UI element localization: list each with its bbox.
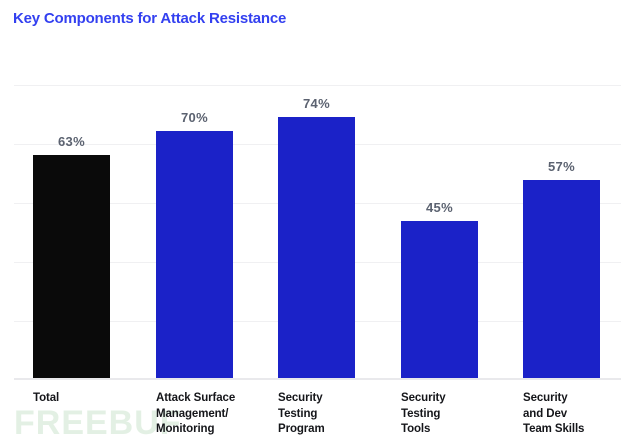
category-label-line: Monitoring (156, 422, 256, 438)
x-axis-line (14, 378, 621, 380)
bar-security-and-dev-team-skills[interactable]: 57% (523, 0, 600, 378)
bar-rect (156, 131, 233, 378)
category-label-line: Testing (401, 407, 501, 423)
category-label-security-and-dev-team-skills: Security and Dev Team Skills (523, 391, 623, 438)
category-labels: Total Attack Surface Management/ Monitor… (0, 391, 635, 446)
category-label-line: and Dev (523, 407, 623, 423)
bar-attack-surface-management-monitoring[interactable]: 70% (156, 0, 233, 378)
category-label-security-testing-program: Security Testing Program (278, 391, 378, 438)
category-label-line: Security (401, 391, 501, 407)
bar-rect (33, 155, 110, 378)
bar-security-testing-tools[interactable]: 45% (401, 0, 478, 378)
bar-value-label: 57% (523, 159, 600, 174)
category-label-line: Program (278, 422, 378, 438)
category-label-line: Tools (401, 422, 501, 438)
category-label-line: Team Skills (523, 422, 623, 438)
bar-value-label: 63% (33, 134, 110, 149)
bar-value-label: 74% (278, 96, 355, 111)
bar-rect (401, 221, 478, 378)
category-label-attack-surface-management-monitoring: Attack Surface Management/ Monitoring (156, 391, 256, 438)
category-label-line: Attack Surface (156, 391, 256, 407)
bar-value-label: 70% (156, 110, 233, 125)
bar-chart: Key Components for Attack Resistance FRE… (0, 0, 635, 446)
category-label-line: Testing (278, 407, 378, 423)
bar-value-label: 45% (401, 200, 478, 215)
category-label-line: Total (33, 391, 133, 407)
bar-rect (523, 180, 600, 378)
category-label-line: Security (278, 391, 378, 407)
category-label-security-testing-tools: Security Testing Tools (401, 391, 501, 438)
category-label-total: Total (33, 391, 133, 407)
bar-security-testing-program[interactable]: 74% (278, 0, 355, 378)
category-label-line: Management/ (156, 407, 256, 423)
category-label-line: Security (523, 391, 623, 407)
bar-rect (278, 117, 355, 378)
bar-total[interactable]: 63% (33, 0, 110, 378)
